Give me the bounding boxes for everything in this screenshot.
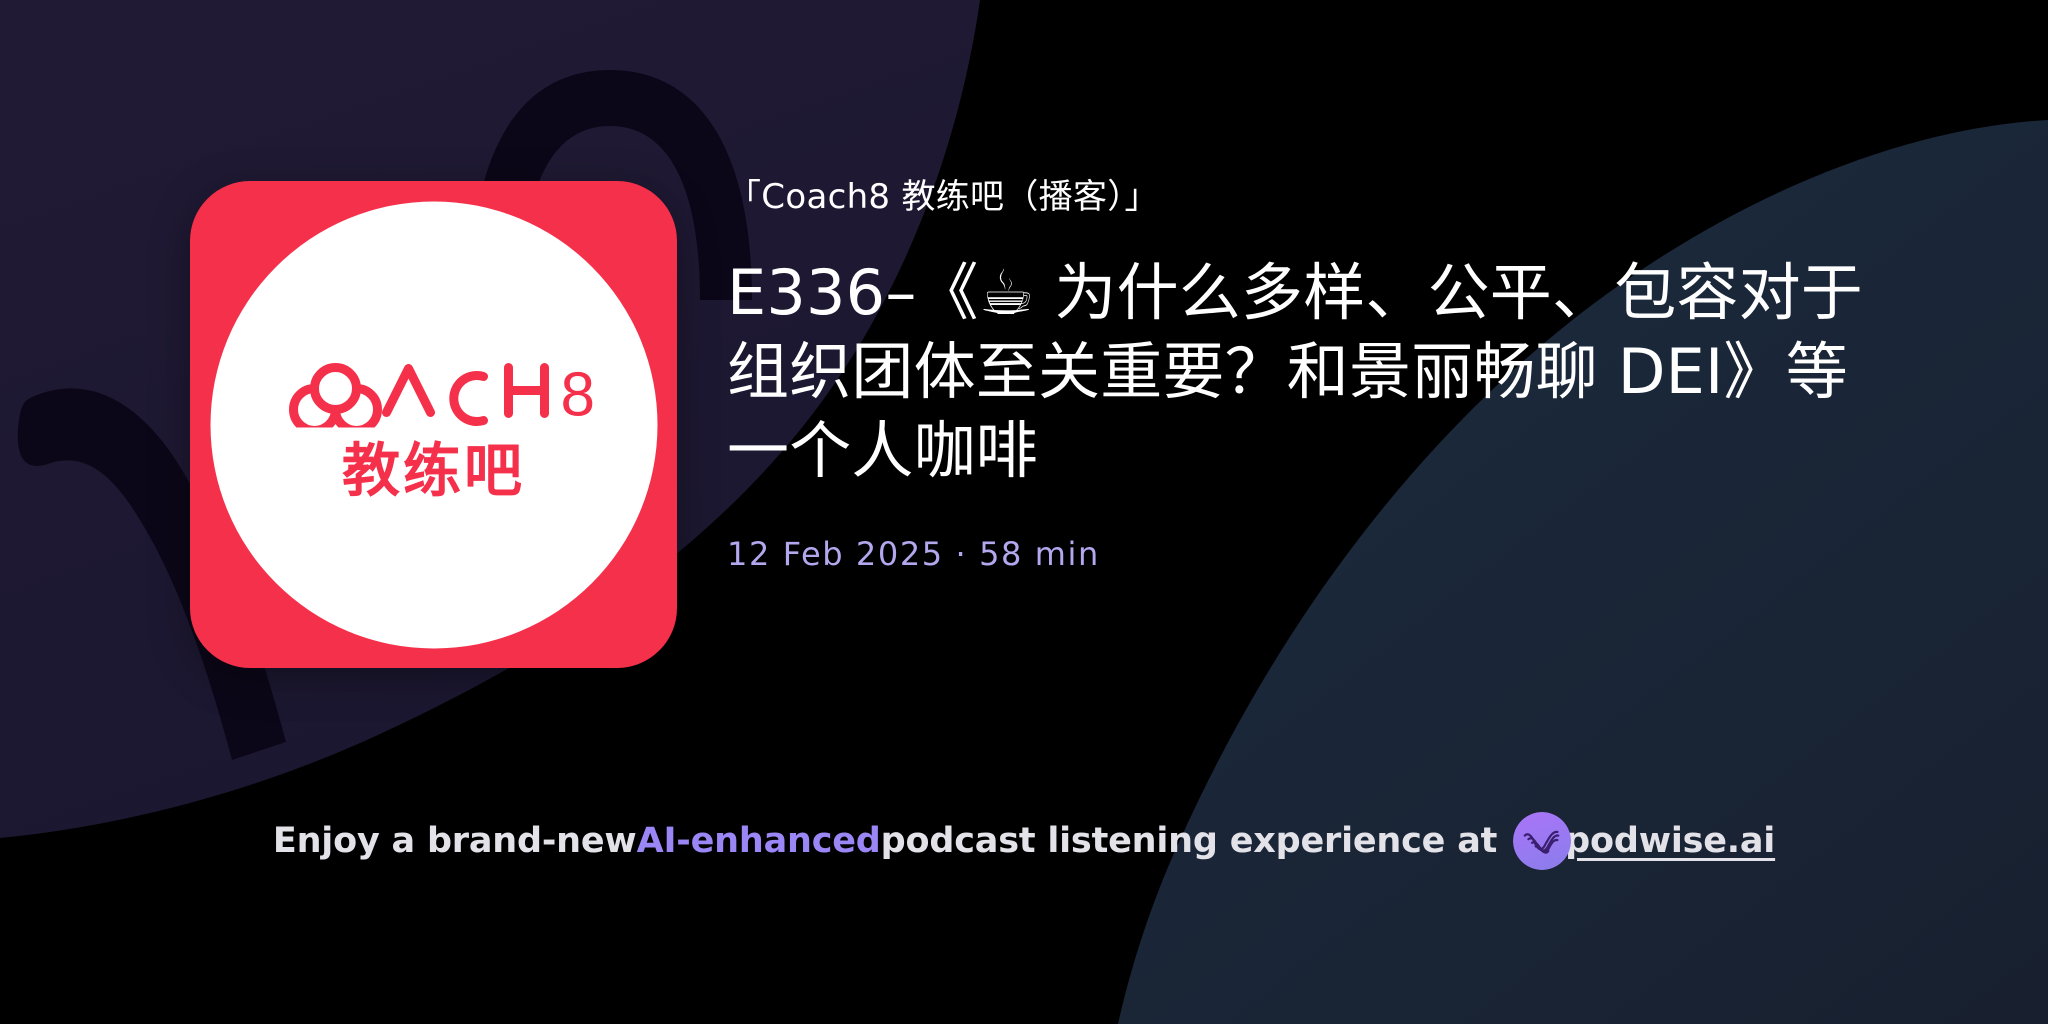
podcast-cover-art[interactable]: 8 教练吧 (190, 181, 677, 668)
cover-disc: 8 教练吧 (210, 201, 657, 648)
footer-accent-text: AI-enhanced (637, 821, 881, 861)
coach8-wordmark-icon: 8 (269, 350, 599, 428)
podwise-wave-logo-icon[interactable] (1513, 812, 1571, 870)
podcast-share-card: 8 教练吧 「Coach8 教练吧（播客）」 E336–《☕ 为什么多样、公平、… (0, 0, 2048, 1024)
footer-tail-text: podcast listening experience at (881, 821, 1497, 861)
svg-text:8: 8 (561, 361, 595, 428)
footer-tagline-bar: Enjoy a brand-new AI-enhanced podcast li… (0, 808, 2048, 874)
episode-info: 「Coach8 教练吧（播客）」 E336–《☕ 为什么多样、公平、包容对于组织… (727, 176, 1987, 573)
podwise-brand-name[interactable]: podwise.ai (1565, 821, 1775, 861)
cover-chinese-label: 教练吧 (342, 442, 525, 500)
episode-title[interactable]: E336–《☕ 为什么多样、公平、包容对于组织团体至关重要？和景丽畅聊 DEI》… (727, 253, 1877, 491)
episode-meta: 12 Feb 2025 · 58 min (727, 535, 1987, 573)
podcast-show-name[interactable]: 「Coach8 教练吧（播客）」 (727, 176, 1987, 219)
podwise-brand[interactable]: podwise.ai (1513, 812, 1775, 870)
footer-lead-text: Enjoy a brand-new (273, 821, 637, 861)
